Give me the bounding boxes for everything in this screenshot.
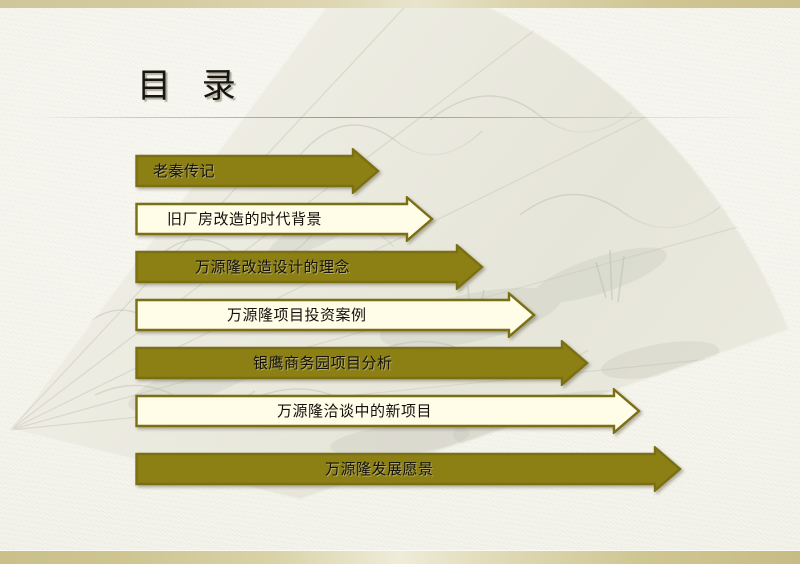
slide-canvas: 目 录 老秦传记 旧厂房改造的时代背景 万源隆改造设计的理念 bbox=[0, 0, 800, 564]
agenda-item-1[interactable]: 老秦传记 bbox=[135, 148, 380, 194]
agenda-item-4[interactable]: 万源隆项目投资案例 bbox=[135, 292, 537, 338]
agenda-item-6[interactable]: 万源隆洽谈中的新项目 bbox=[135, 388, 642, 434]
agenda-item-6-label: 万源隆洽谈中的新项目 bbox=[277, 403, 432, 419]
agenda-item-1-label: 老秦传记 bbox=[153, 163, 215, 179]
agenda-arrow-list: 老秦传记 旧厂房改造的时代背景 万源隆改造设计的理念 万源隆项目投资案例 bbox=[0, 0, 800, 564]
agenda-item-5-label: 银鹰商务园项目分析 bbox=[253, 355, 393, 371]
agenda-item-3-label: 万源隆改造设计的理念 bbox=[195, 259, 350, 275]
agenda-item-4-label: 万源隆项目投资案例 bbox=[227, 307, 367, 323]
agenda-item-2[interactable]: 旧厂房改造的时代背景 bbox=[135, 196, 435, 242]
agenda-item-3[interactable]: 万源隆改造设计的理念 bbox=[135, 244, 485, 290]
agenda-item-7-label: 万源隆发展愿景 bbox=[325, 461, 434, 477]
agenda-item-5[interactable]: 银鹰商务园项目分析 bbox=[135, 340, 590, 386]
agenda-item-2-label: 旧厂房改造的时代背景 bbox=[167, 211, 322, 227]
agenda-item-7[interactable]: 万源隆发展愿景 bbox=[135, 446, 683, 492]
